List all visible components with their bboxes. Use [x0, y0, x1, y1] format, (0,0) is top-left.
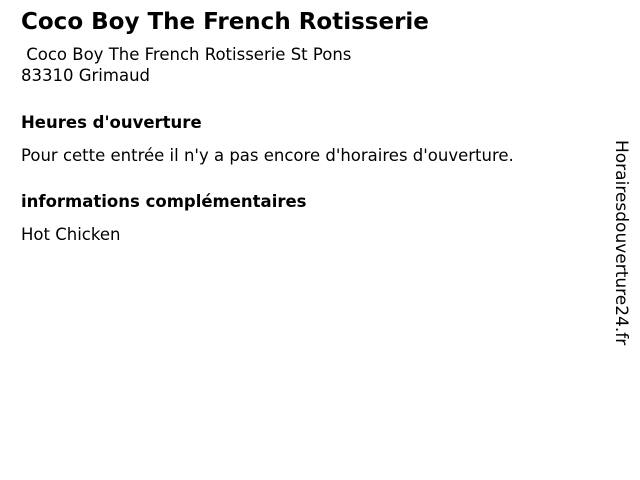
additional-info-text: Hot Chicken	[21, 212, 581, 245]
venue-address: Coco Boy The French Rotisserie St Pons 8…	[21, 35, 581, 86]
page-title: Coco Boy The French Rotisserie	[21, 0, 581, 35]
address-line-1: Coco Boy The French Rotisserie St Pons	[21, 44, 581, 65]
address-line-2: 83310 Grimaud	[21, 65, 581, 86]
additional-info-heading: informations complémentaires	[21, 166, 581, 212]
main-content: Coco Boy The French Rotisserie Coco Boy …	[21, 0, 581, 245]
opening-hours-text: Pour cette entrée il n'y a pas encore d'…	[21, 133, 581, 166]
page-root: Coco Boy The French Rotisserie Coco Boy …	[0, 0, 640, 480]
site-watermark: Horairesdouverture24.fr	[612, 140, 629, 345]
opening-hours-heading: Heures d'ouverture	[21, 86, 581, 133]
